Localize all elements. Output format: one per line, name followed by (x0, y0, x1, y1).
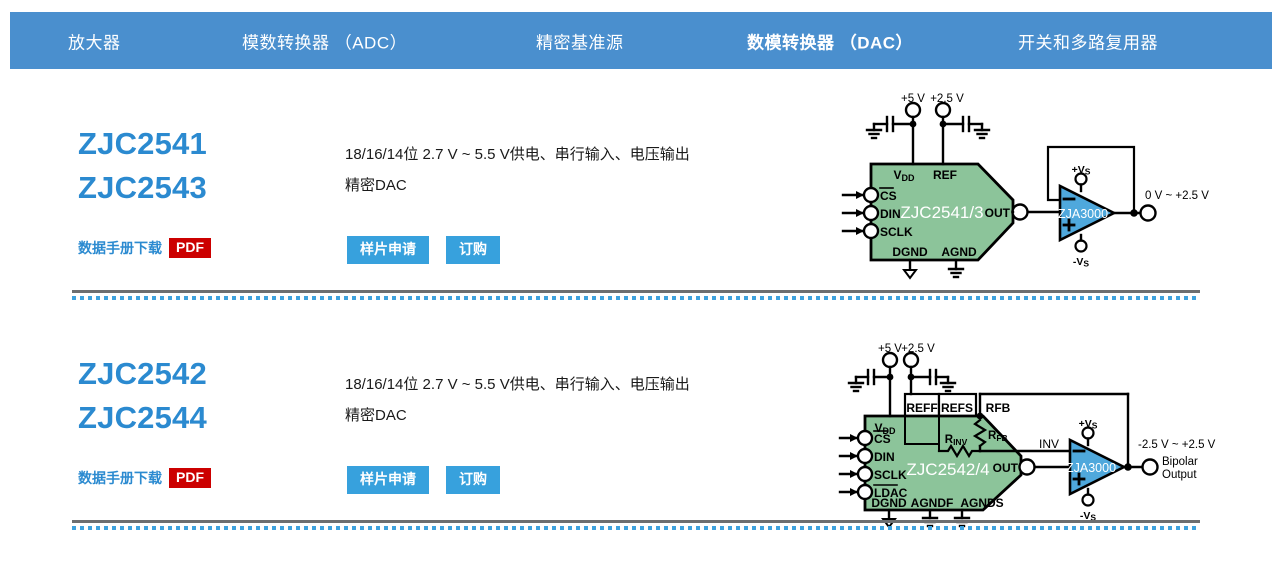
opamp-label: ZJA3000 (1058, 207, 1108, 221)
nav-item-adc[interactable]: 模数转换器 （ADC） (242, 28, 407, 53)
row-separator (72, 520, 1200, 530)
pin-label-out: OUT (985, 206, 1011, 220)
chip-label: ZJC2542/4 (906, 460, 989, 479)
action-buttons: 样片申请 订购 (347, 466, 517, 494)
pin-label-sclk: SCLK (874, 468, 907, 482)
separator-line-gray (72, 520, 1200, 523)
pin-label-rfb: RFB (986, 401, 1011, 415)
product-row: ZJC2541 ZJC2543 数据手册下载 PDF 18/16/14位 2.7… (0, 100, 1288, 285)
opamp-supply-pos: +VS (1072, 164, 1091, 177)
pin-label-refs: REFS (941, 401, 973, 415)
supply-label-5v: +5 V (901, 93, 925, 105)
opamp-supply-neg: -VS (1073, 256, 1090, 269)
application-circuit-diagram: +5 V +2.5 V REFF REFS RFB VDD RINV RFB C… (838, 338, 1238, 533)
main-navigation: 放大器 模数转换器 （ADC） 精密基准源 数模转换器 （DAC） 开关和多路复… (10, 12, 1272, 69)
sample-request-button[interactable]: 样片申请 (347, 236, 429, 264)
pdf-badge[interactable]: PDF (169, 238, 211, 258)
action-buttons: 样片申请 订购 (347, 236, 517, 264)
output-range-label: 0 V ~ +2.5 V (1145, 190, 1209, 202)
chip-label: ZJC2541/3 (900, 203, 983, 222)
output-range-label: -2.5 V ~ +2.5 V (1138, 439, 1216, 451)
datasheet-download[interactable]: 数据手册下载 PDF (78, 238, 211, 258)
description-line: 18/16/14位 2.7 V ~ 5.5 V供电、串行输入、电压输出 (345, 370, 775, 401)
opamp-supply-pos: +VS (1079, 418, 1098, 431)
nav-item-voltage-reference[interactable]: 精密基准源 (536, 28, 624, 53)
output-type-line: Bipolar (1162, 456, 1198, 468)
separator-line-dotted (72, 296, 1200, 300)
pin-label-reff: REFF (906, 401, 937, 415)
pin-label-cs: CS (880, 189, 897, 203)
pin-label-agnd: AGND (941, 245, 977, 259)
pin-label-agndf: AGNDF (911, 496, 954, 510)
application-circuit-diagram: +5 V +2.5 V VDD REF CS DIN SCLK DGND AGN… (838, 88, 1238, 293)
opamp-label: ZJA3000 (1066, 461, 1116, 475)
description-line: 精密DAC (345, 171, 775, 202)
sample-request-button[interactable]: 样片申请 (347, 466, 429, 494)
separator-line-gray (72, 290, 1200, 293)
supply-label-2v5: +2.5 V (901, 343, 935, 355)
order-button[interactable]: 订购 (446, 236, 500, 264)
product-description: 18/16/14位 2.7 V ~ 5.5 V供电、串行输入、电压输出 精密DA… (345, 140, 775, 202)
datasheet-download-label[interactable]: 数据手册下载 (78, 238, 162, 258)
supply-label-2v5: +2.5 V (930, 93, 964, 105)
part-number-link[interactable]: ZJC2544 (78, 396, 207, 440)
nav-item-switches-multiplexers[interactable]: 开关和多路复用器 (1018, 28, 1158, 53)
pin-label-din: DIN (874, 450, 895, 464)
description-line: 18/16/14位 2.7 V ~ 5.5 V供电、串行输入、电压输出 (345, 140, 775, 171)
datasheet-download-label[interactable]: 数据手册下载 (78, 468, 162, 488)
nav-item-amplifiers[interactable]: 放大器 (68, 28, 121, 53)
product-description: 18/16/14位 2.7 V ~ 5.5 V供电、串行输入、电压输出 精密DA… (345, 370, 775, 432)
pin-label-din: DIN (880, 207, 901, 221)
pdf-badge[interactable]: PDF (169, 468, 211, 488)
part-number-block: ZJC2541 ZJC2543 (78, 122, 207, 210)
part-number-link[interactable]: ZJC2541 (78, 122, 207, 166)
pin-label-agnds: AGNDS (960, 496, 1003, 510)
description-line: 精密DAC (345, 401, 775, 432)
part-number-link[interactable]: ZJC2543 (78, 166, 207, 210)
part-number-link[interactable]: ZJC2542 (78, 352, 207, 396)
row-separator (72, 290, 1200, 300)
nav-item-dac[interactable]: 数模转换器 （DAC） (747, 28, 913, 53)
pin-label-out: OUT (993, 461, 1019, 475)
order-button[interactable]: 订购 (446, 466, 500, 494)
pin-label-dgnd: DGND (871, 496, 907, 510)
part-number-block: ZJC2542 ZJC2544 (78, 352, 207, 440)
pin-label-ref: REF (933, 168, 957, 182)
pin-label-sclk: SCLK (880, 225, 913, 239)
separator-line-dotted (72, 526, 1200, 530)
output-type-line: Output (1162, 469, 1197, 481)
pin-label-dgnd: DGND (892, 245, 928, 259)
pin-label-inv: INV (1039, 437, 1059, 451)
pin-label-cs: CS (874, 432, 891, 446)
datasheet-download[interactable]: 数据手册下载 PDF (78, 468, 211, 488)
supply-label-5v: +5 V (878, 343, 902, 355)
product-row: ZJC2542 ZJC2544 数据手册下载 PDF 18/16/14位 2.7… (0, 330, 1288, 515)
